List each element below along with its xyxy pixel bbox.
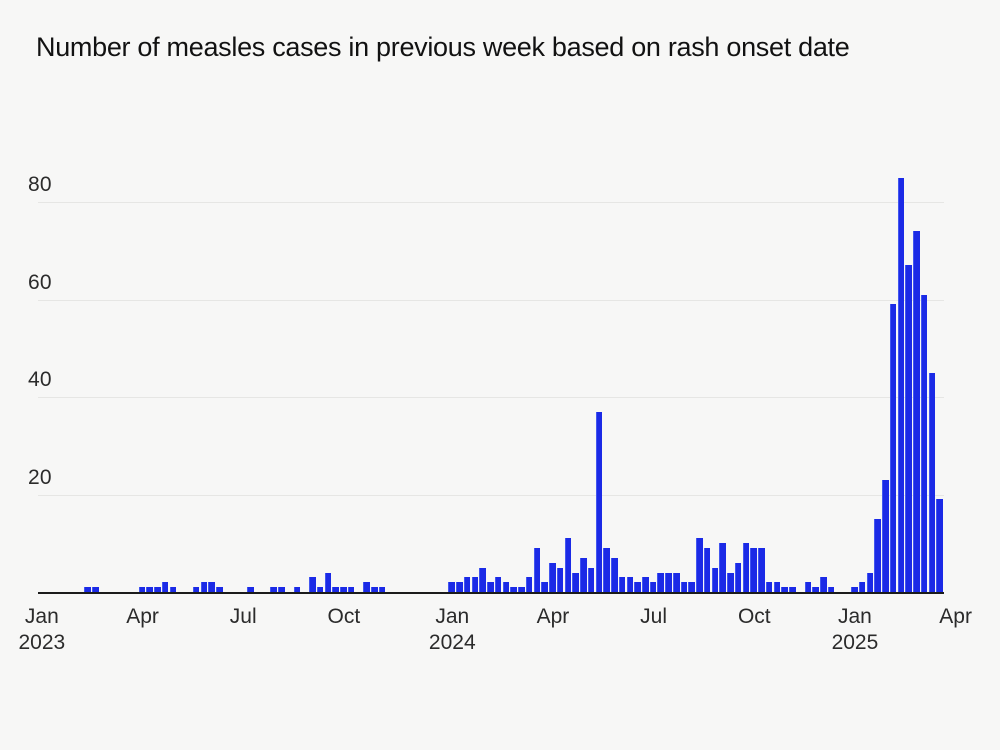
bar <box>642 577 649 592</box>
x-tick-label-5: Apr <box>537 604 570 630</box>
bar <box>534 548 541 592</box>
bar <box>619 577 626 592</box>
bar <box>464 577 471 592</box>
bar <box>657 573 664 593</box>
bar <box>719 543 726 592</box>
bar <box>487 582 494 592</box>
bar <box>309 577 316 592</box>
x-tick-label-1: Apr <box>126 604 159 630</box>
bar <box>681 582 688 592</box>
bar <box>596 412 603 592</box>
bar <box>704 548 711 592</box>
bar <box>456 582 463 592</box>
bar <box>580 558 587 592</box>
bar <box>650 582 657 592</box>
bar <box>673 573 680 593</box>
x-tick-label-7: Oct <box>738 604 771 630</box>
bar <box>526 577 533 592</box>
bar <box>750 548 757 592</box>
bar <box>898 178 905 592</box>
bar <box>688 582 695 592</box>
x-tick-label-8: Jan 2025 <box>832 604 879 656</box>
plot-area: 20406080 Jan 2023AprJulOctJan 2024AprJul… <box>0 0 1000 750</box>
bar <box>712 568 719 592</box>
bar <box>572 573 579 593</box>
bar <box>805 582 812 592</box>
bar <box>727 573 734 593</box>
x-tick-label-9: Apr <box>939 604 972 630</box>
bar <box>363 582 370 592</box>
bar <box>448 582 455 592</box>
bar <box>549 563 556 592</box>
bar <box>503 582 510 592</box>
x-tick-label-0: Jan 2023 <box>19 604 66 656</box>
bar <box>882 480 889 592</box>
bar <box>696 538 703 592</box>
bar <box>820 577 827 592</box>
bar <box>565 538 572 592</box>
x-axis-line <box>38 592 944 594</box>
x-tick-label-2: Jul <box>230 604 257 630</box>
bar <box>936 499 943 592</box>
bar <box>774 582 781 592</box>
bar <box>541 582 548 592</box>
bar <box>162 582 169 592</box>
bar <box>859 582 866 592</box>
bar <box>557 568 564 592</box>
bar <box>665 573 672 593</box>
bar <box>735 563 742 592</box>
bar <box>472 577 479 592</box>
bar <box>929 373 936 592</box>
bar <box>627 577 634 592</box>
bar <box>874 519 881 592</box>
x-tick-label-6: Jul <box>640 604 667 630</box>
bar <box>913 231 920 592</box>
bar <box>921 295 928 592</box>
bar <box>766 582 773 592</box>
bar <box>495 577 502 592</box>
bar <box>479 568 486 592</box>
bar <box>743 543 750 592</box>
bar <box>890 304 897 592</box>
bar <box>634 582 641 592</box>
bar-series <box>38 0 944 592</box>
bar <box>905 265 912 592</box>
y-tick-label-40: 40 <box>28 369 52 390</box>
bar <box>603 548 610 592</box>
x-tick-label-3: Oct <box>328 604 361 630</box>
bar <box>588 568 595 592</box>
bar <box>208 582 215 592</box>
bar <box>867 573 874 593</box>
chart-root: Number of measles cases in previous week… <box>0 0 1000 750</box>
x-tick-label-4: Jan 2024 <box>429 604 476 656</box>
bar <box>325 573 332 593</box>
bar <box>758 548 765 592</box>
bar <box>201 582 208 592</box>
y-tick-label-60: 60 <box>28 272 52 293</box>
y-tick-label-80: 80 <box>28 174 52 195</box>
y-tick-label-20: 20 <box>28 467 52 488</box>
bar <box>611 558 618 592</box>
